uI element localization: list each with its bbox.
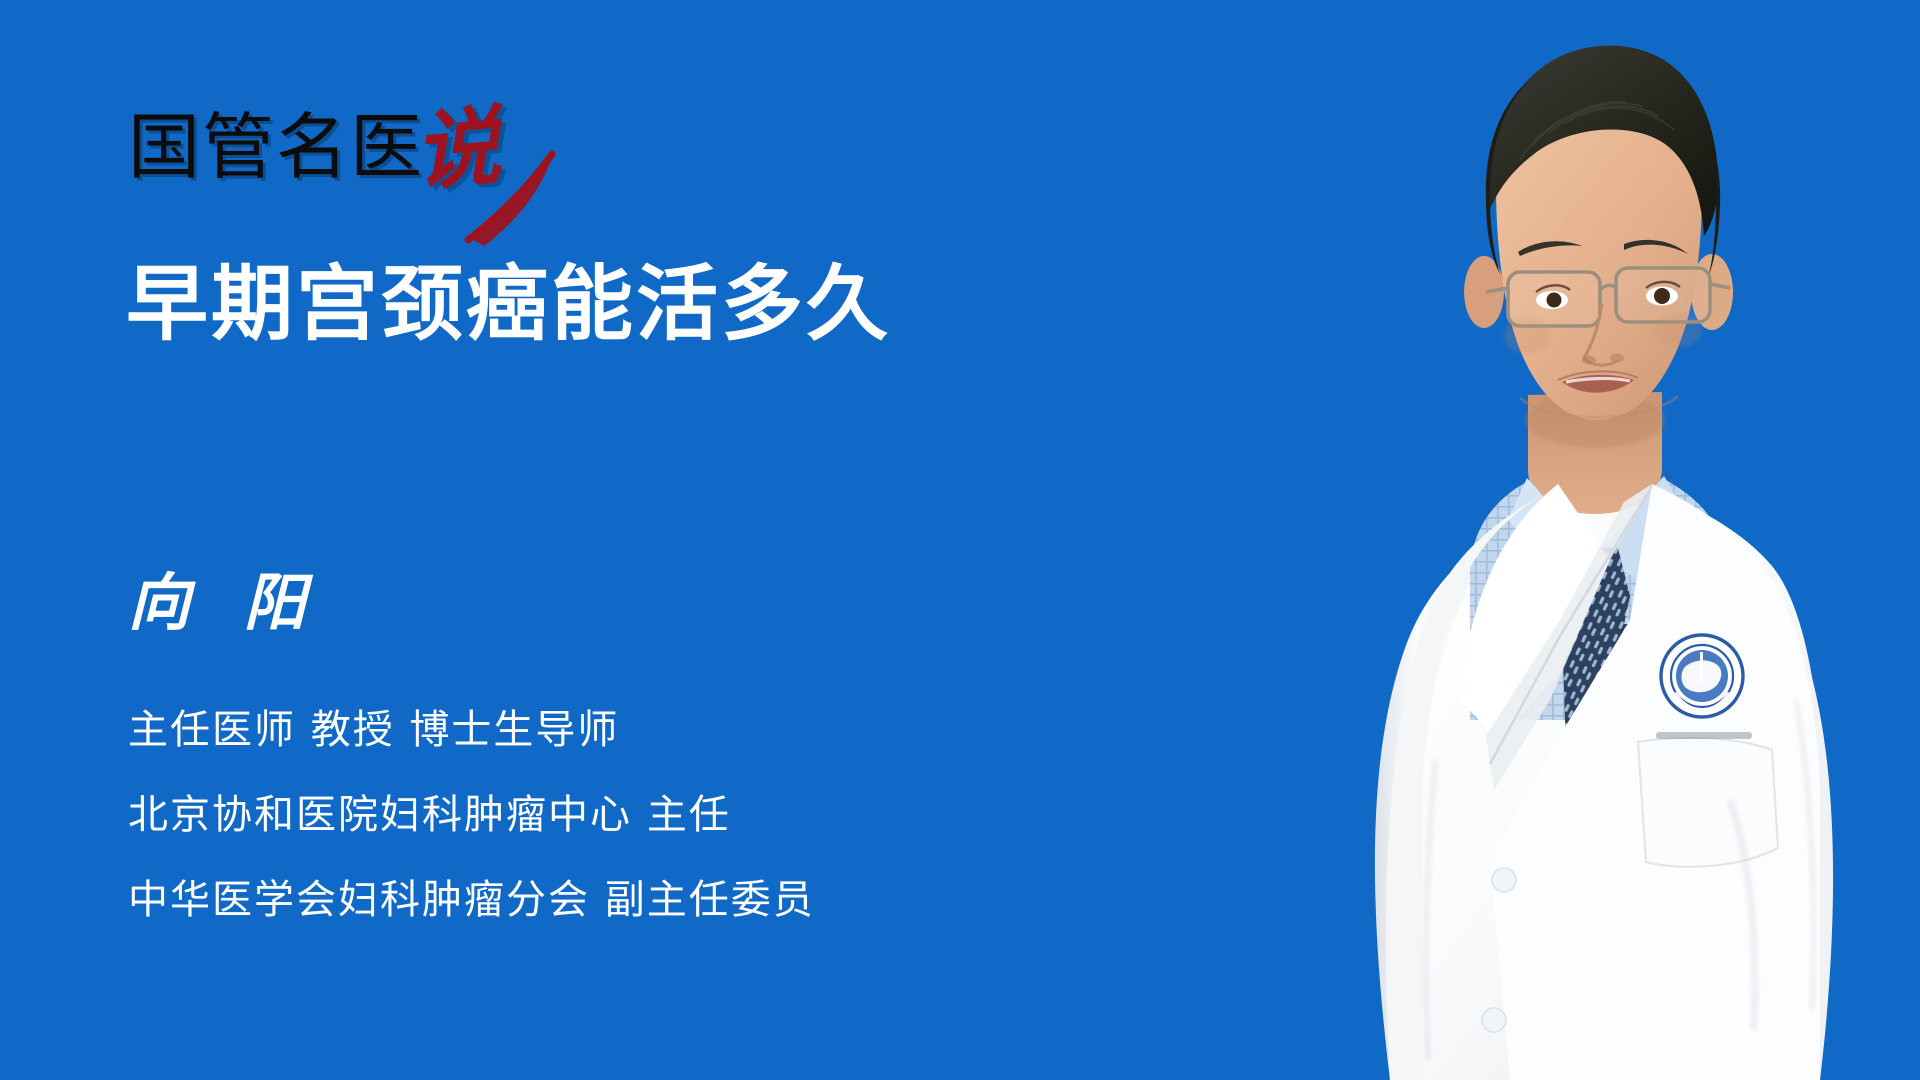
credential-line-1: 主任医师 教授 博士生导师 xyxy=(128,710,815,750)
speaker-name: 向 阳 xyxy=(128,572,322,634)
credential-line-2: 北京协和医院妇科肿瘤中心 主任 xyxy=(128,795,815,835)
page-title: 早期宫颈癌能活多久 xyxy=(126,262,891,348)
brand-logo-accent: 说 xyxy=(411,112,503,190)
emblem-caption xyxy=(1656,732,1752,739)
coat-breast-pocket xyxy=(1638,738,1778,867)
hospital-emblem xyxy=(1660,634,1744,718)
doctor-portrait xyxy=(1090,0,1920,1080)
cheek-shadow-right xyxy=(1654,312,1702,348)
pupil-right xyxy=(1654,288,1670,304)
nostril-left xyxy=(1582,356,1596,365)
coat-button-bottom xyxy=(1482,1008,1506,1032)
nostril-right xyxy=(1610,354,1624,363)
credential-line-3: 中华医学会妇科肿瘤分会 副主任委员 xyxy=(128,880,815,920)
pupil-left xyxy=(1547,293,1562,308)
slide-canvas: 国管名医 说 早期宫颈癌能活多久 向 阳 主任医师 教授 博士生导师 北京协和医… xyxy=(0,0,1920,1080)
brand-logo-main: 国管名医 xyxy=(128,114,424,180)
brand-logo: 国管名医 说 xyxy=(128,88,500,180)
coat-button-top xyxy=(1492,868,1516,892)
speaker-credentials: 主任医师 教授 博士生导师 北京协和医院妇科肿瘤中心 主任 中华医学会妇科肿瘤分… xyxy=(128,710,815,920)
ear-left xyxy=(1464,256,1504,328)
cheek-shadow-left xyxy=(1504,318,1552,354)
